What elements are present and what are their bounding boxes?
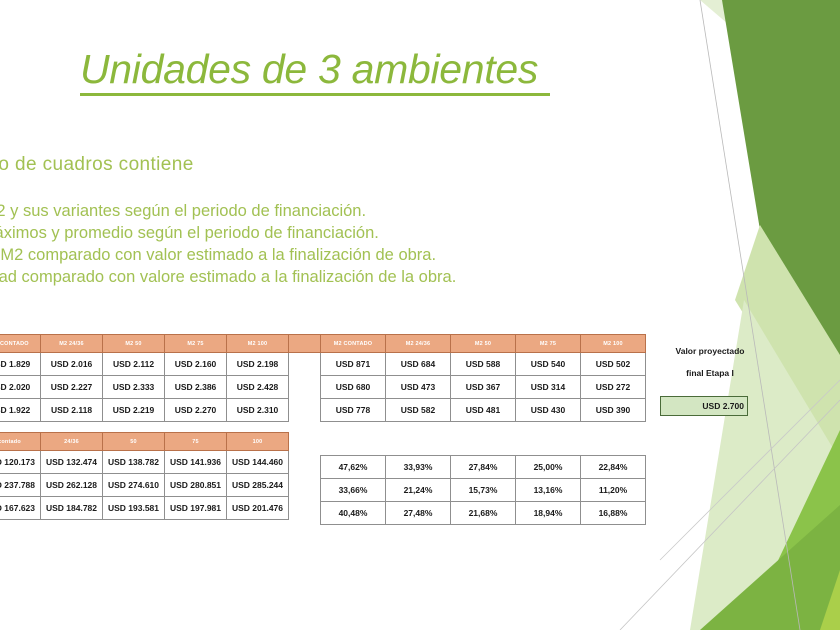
table-cell: USD 193.581 [103,497,165,520]
table-body: contado 24/36 50 75 100 USD 120.173 USD … [0,433,289,520]
bullet-item: Porcentajes de utilidad comparado con va… [0,266,690,288]
table-cell: 33,66% [321,479,386,502]
table-cell: 40,48% [321,502,386,525]
column-header: M2 CONTADO [0,335,41,353]
table-row: USD 871 USD 684 USD 588 USD 540 USD 502 [321,353,646,376]
table-cell: USD 2.198 [227,353,289,376]
slide-canvas: Unidades de 3 ambientes El siguiente gru… [0,0,840,630]
table-cell: 21,68% [451,502,516,525]
table-cell: USD 2.118 [41,399,103,422]
table-cell: USD 2.428 [227,376,289,399]
table-cell: USD 430 [516,399,581,422]
table-cell: 21,24% [386,479,451,502]
table-cell: USD 237.788 [0,474,41,497]
table-cell: USD 1.922 [0,399,41,422]
table-cell: USD 141.936 [165,451,227,474]
projected-value-block: Valor proyectado final Etapa I USD 2.700 [650,340,770,416]
bullet-item: Valor en USD por M2 y sus variantes segú… [0,200,690,222]
table-row: USD 1.922 USD 2.118 USD 2.219 USD 2.270 … [0,399,351,422]
table-cell: 11,20% [581,479,646,502]
table-row: USD 2.020 USD 2.227 USD 2.333 USD 2.386 … [0,376,351,399]
table-cell: 27,84% [451,456,516,479]
column-header: contado [0,433,41,451]
table-cell: USD 2.333 [103,376,165,399]
table-cell: USD 2.112 [103,353,165,376]
column-header: M2 CONTADO [321,335,386,353]
table-cell: USD 201.476 [227,497,289,520]
table-cell: USD 502 [581,353,646,376]
table-cell: USD 120.173 [0,451,41,474]
projected-value-label-line1: Valor proyectado [650,340,770,362]
table-cell: USD 473 [386,376,451,399]
table-cell: USD 2.386 [165,376,227,399]
table-cell: USD 2.227 [41,376,103,399]
table-cell: USD 2.016 [41,353,103,376]
page-title: Unidades de 3 ambientes [80,48,560,91]
table-row: USD 237.788 USD 262.128 USD 274.610 USD … [0,474,289,497]
table-body: M2 CONTADO M2 24/36 M2 50 M2 75 M2 100 U… [0,335,351,422]
bullet-item: Valores mínimos, máximos y promedio segú… [0,222,690,244]
table-row: 33,66% 21,24% 15,73% 13,16% 11,20% [321,479,646,502]
table-cell: USD 280.851 [165,474,227,497]
table-row: USD 680 USD 473 USD 367 USD 314 USD 272 [321,376,646,399]
column-header: 24/36 [41,433,103,451]
table-row: USD 167.623 USD 184.782 USD 193.581 USD … [0,497,289,520]
bullet-item: Utilidad en USD por M2 comparado con val… [0,244,690,266]
table-cell: USD 2.160 [165,353,227,376]
lead-line: El siguiente grupo de cuadros contiene [0,152,690,178]
table-header-row: M2 CONTADO M2 24/36 M2 50 M2 75 M2 100 [321,335,646,353]
table-cell: USD 274.610 [103,474,165,497]
table-cell: USD 262.128 [41,474,103,497]
title-underline [80,93,550,96]
table-cell: USD 2.310 [227,399,289,422]
column-header: M2 24/36 [386,335,451,353]
table-cell: USD 540 [516,353,581,376]
table-cell: USD 684 [386,353,451,376]
column-header: 75 [165,433,227,451]
table-cell: USD 2.270 [165,399,227,422]
table-cell: 22,84% [581,456,646,479]
table-cell: USD 390 [581,399,646,422]
column-header: M2 50 [103,335,165,353]
body-copy: El siguiente grupo de cuadros contiene V… [0,152,690,288]
table-cell: USD 367 [451,376,516,399]
column-header: M2 24/36 [41,335,103,353]
table-total-price: contado 24/36 50 75 100 USD 120.173 USD … [0,432,289,520]
table-cell: 15,73% [451,479,516,502]
table-cell: USD 588 [451,353,516,376]
title-block: Unidades de 3 ambientes [80,48,560,96]
table-body: 47,62% 33,93% 27,84% 25,00% 22,84% 33,66… [321,456,646,525]
table-row: USD 120.173 USD 132.474 USD 138.782 USD … [0,451,289,474]
column-header: M2 75 [165,335,227,353]
table-cell: 33,93% [386,456,451,479]
table-cell: USD 272 [581,376,646,399]
table-utility-per-m2: M2 CONTADO M2 24/36 M2 50 M2 75 M2 100 U… [320,334,646,422]
table-cell: 47,62% [321,456,386,479]
table-cell: USD 132.474 [41,451,103,474]
column-header: M2 100 [227,335,289,353]
table-cell: USD 2.020 [0,376,41,399]
table-cell: USD 314 [516,376,581,399]
table-row: 47,62% 33,93% 27,84% 25,00% 22,84% [321,456,646,479]
table-row: USD 778 USD 582 USD 481 USD 430 USD 390 [321,399,646,422]
table-cell: 27,48% [386,502,451,525]
table-cell: 25,00% [516,456,581,479]
table-cell: USD 144.460 [227,451,289,474]
table-cell: USD 1.829 [0,353,41,376]
table-cell: USD 184.782 [41,497,103,520]
projected-value-label-line2: final Etapa I [650,362,770,384]
table-cell: USD 197.981 [165,497,227,520]
table-cell: 16,88% [581,502,646,525]
table-cell: USD 582 [386,399,451,422]
table-header-row: contado 24/36 50 75 100 [0,433,289,451]
table-header-row: M2 CONTADO M2 24/36 M2 50 M2 75 M2 100 [0,335,351,353]
table-cell: USD 2.219 [103,399,165,422]
column-header: 100 [227,433,289,451]
table-row: USD 1.829 USD 2.016 USD 2.112 USD 2.160 … [0,353,351,376]
table-cell: USD 138.782 [103,451,165,474]
bullet-list: Valor en USD por M2 y sus variantes segú… [0,200,690,288]
table-utility-percentage: 47,62% 33,93% 27,84% 25,00% 22,84% 33,66… [320,455,646,525]
table-cell: 18,94% [516,502,581,525]
table-cell: USD 167.623 [0,497,41,520]
table-cell: USD 285.244 [227,474,289,497]
table-cell: 13,16% [516,479,581,502]
table-body: M2 CONTADO M2 24/36 M2 50 M2 75 M2 100 U… [321,335,646,422]
table-cell: USD 871 [321,353,386,376]
table-price-per-m2: M2 CONTADO M2 24/36 M2 50 M2 75 M2 100 U… [0,334,351,422]
table-cell: USD 481 [451,399,516,422]
table-cell: USD 680 [321,376,386,399]
column-header: M2 75 [516,335,581,353]
table-row: 40,48% 27,48% 21,68% 18,94% 16,88% [321,502,646,525]
column-header: 50 [103,433,165,451]
column-header: M2 100 [581,335,646,353]
column-header: M2 50 [451,335,516,353]
table-cell: USD 778 [321,399,386,422]
projected-value-box: USD 2.700 [660,396,748,416]
